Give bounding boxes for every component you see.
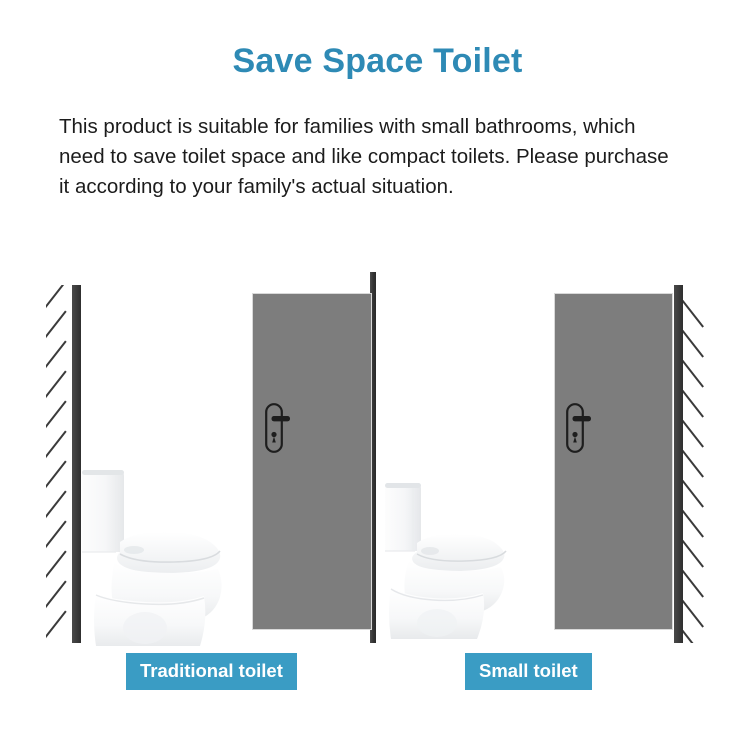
- left-compartment-door: [252, 293, 372, 630]
- small-toilet-illustration: [383, 473, 507, 650]
- page-title: Save Space Toilet: [0, 42, 755, 81]
- label-traditional-toilet: Traditional toilet: [126, 653, 297, 690]
- product-info-panel: Save Space Toilet This product is suitab…: [0, 0, 755, 755]
- door-handle-icon: [265, 403, 291, 453]
- comparison-illustration: [0, 255, 755, 695]
- door-handle-icon: [566, 403, 592, 453]
- right-wall: [674, 285, 683, 643]
- right-compartment-door: [554, 293, 673, 630]
- right-wall-hatching-icon: [683, 285, 709, 643]
- left-wall-hatching-icon: [46, 285, 72, 643]
- label-small-toilet: Small toilet: [465, 653, 592, 690]
- product-description: This product is suitable for families wi…: [59, 112, 679, 202]
- traditional-toilet-illustration: [80, 458, 228, 650]
